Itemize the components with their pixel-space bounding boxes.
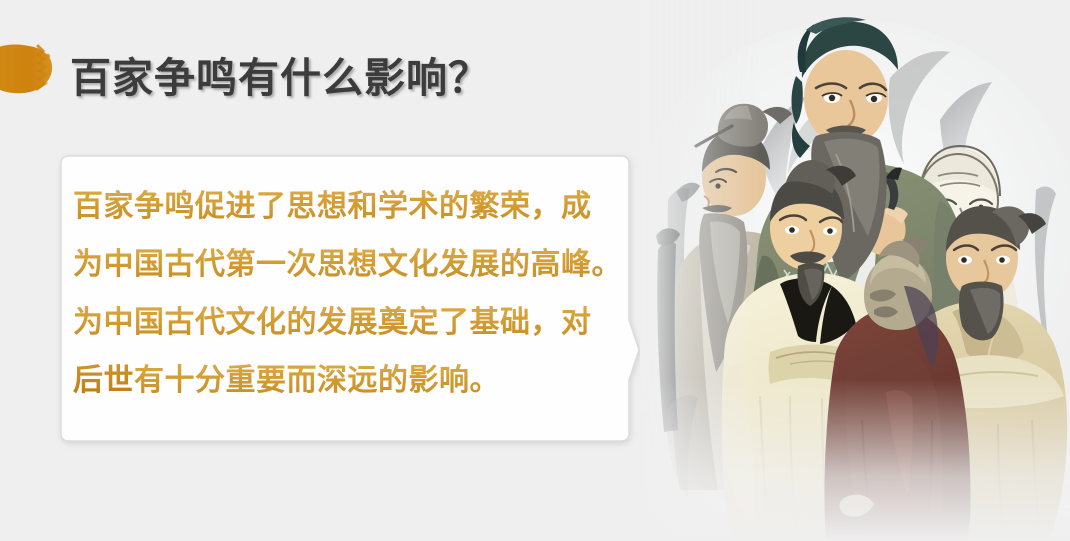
figure-front-center-dark-red-robe [824, 237, 970, 541]
card-line-4: 后世有十分重要而深远的影响。 [73, 352, 629, 410]
figure-center-green-robe-scholar [753, 17, 970, 470]
card-line-4-emphasis: 后世 [73, 363, 134, 398]
page-title: 百家争鸣有什么影响？ [70, 50, 670, 106]
content-card: 百家争鸣促进了思想和学术的繁荣，成 为中国古代第一次思想文化发展的高峰。 为中国… [55, 154, 645, 443]
card-line-1: 百家争鸣促进了思想和学术的繁荣，成 [73, 178, 629, 236]
figure-front-right-beige-robe-scholar [896, 206, 1068, 541]
figure-front-left-black-collar-scholar [722, 160, 904, 541]
ink-wash-strokes [668, 51, 1056, 374]
slide-canvas: 百家争鸣有什么影响？ 百家争鸣促进了思想和学术的繁荣，成 为中国古代第一次思想文… [0, 0, 1070, 541]
card-line-3: 为中国古代文化的发展奠定了基础，对 [73, 294, 629, 352]
card-line-2: 为中国古代第一次思想文化发展的高峰。 [73, 236, 629, 294]
brush-stroke-icon [0, 42, 54, 96]
chinese-philosophers-ink-painting [640, 0, 1070, 541]
figure-right-white-beard-elder [897, 146, 1026, 470]
card-line-4-rest: 有十分重要而深远的影响。 [134, 363, 500, 398]
card-text-block: 百家争鸣促进了思想和学术的繁荣，成 为中国古代第一次思想文化发展的高峰。 为中国… [73, 178, 629, 418]
figure-left-grey-beard-sage [656, 104, 803, 490]
